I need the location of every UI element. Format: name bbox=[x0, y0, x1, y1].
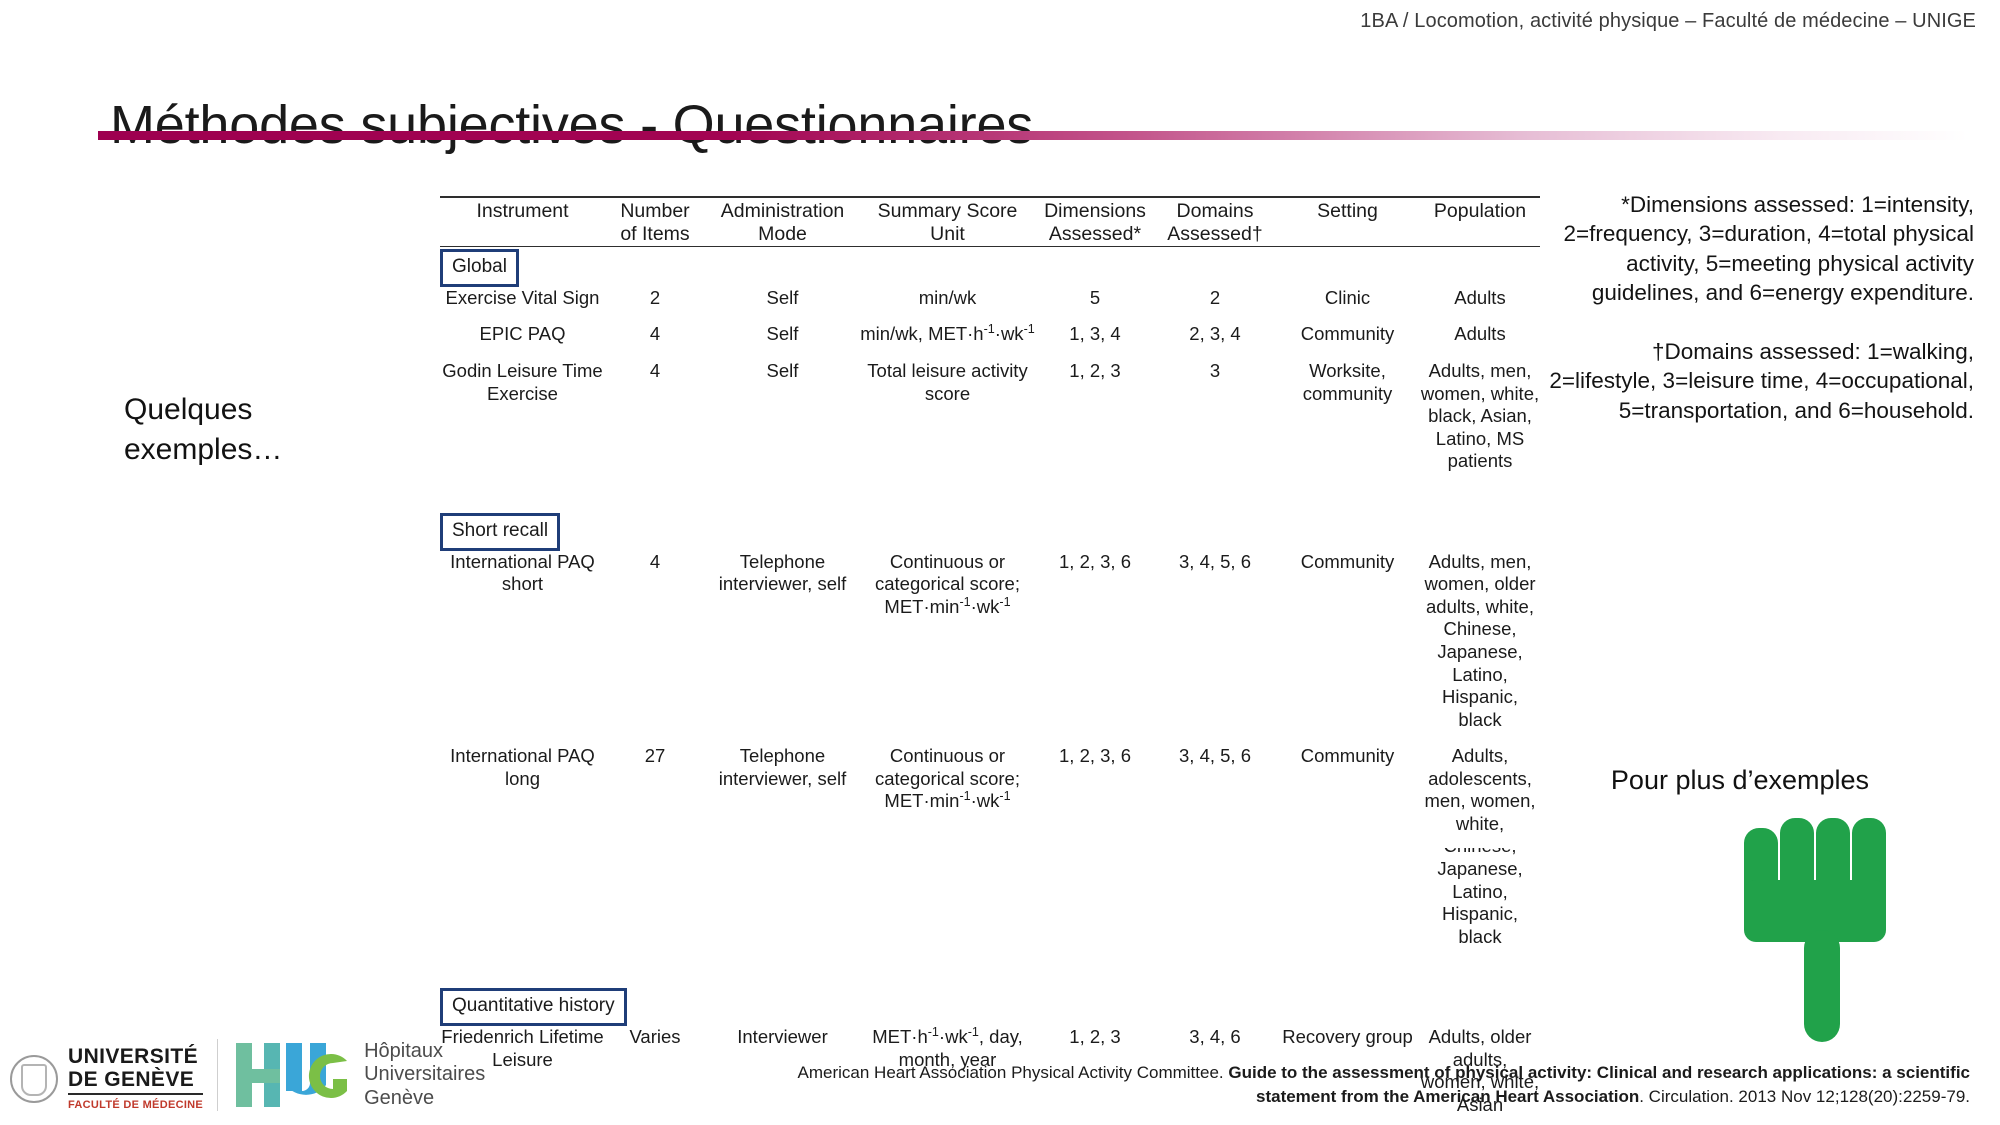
section-cell: Quantitative history bbox=[440, 988, 1540, 1026]
column-header-of-items: Numberof Items bbox=[605, 200, 705, 247]
spacer bbox=[440, 473, 1540, 487]
left-caption: Quelques exemples… bbox=[124, 390, 354, 470]
table-section-row: Short recall bbox=[440, 513, 1540, 551]
spacer bbox=[440, 962, 1540, 988]
cell-unit: Continuous or categorical score; MET·min… bbox=[860, 551, 1035, 732]
cell-items: Varies bbox=[605, 1026, 705, 1116]
cell-mode: Self bbox=[705, 323, 860, 346]
table-header-row: InstrumentNumberof ItemsAdministrationMo… bbox=[440, 200, 1540, 247]
column-header-assessed-: DimensionsAssessed* bbox=[1035, 200, 1155, 247]
section-cell: Short recall bbox=[440, 513, 1540, 551]
hug-line3: Genève bbox=[364, 1087, 485, 1111]
cell-domains: 3 bbox=[1155, 360, 1275, 473]
cell-population: Adults, men, women, older adults, white,… bbox=[1420, 551, 1540, 732]
cell-items: 4 bbox=[605, 360, 705, 473]
figure-footnotes: *Dimensions assessed: 1=intensity, 2=fre… bbox=[1544, 190, 1974, 425]
cell-items: 4 bbox=[605, 551, 705, 732]
cell-population: Adults bbox=[1420, 323, 1540, 346]
cell-unit: min/wk, MET·h-1·wk-1 bbox=[860, 323, 1035, 346]
cell-domains: 2 bbox=[1155, 287, 1275, 310]
cell-dimensions: 1, 2, 3 bbox=[1035, 360, 1155, 473]
spacer-row bbox=[440, 962, 1540, 988]
footnote-dimensions: *Dimensions assessed: 1=intensity, 2=fre… bbox=[1544, 190, 1974, 307]
column-header-setting: Setting bbox=[1275, 200, 1420, 247]
citation-prefix: American Heart Association Physical Acti… bbox=[798, 1063, 1229, 1082]
cell-instrument: EPIC PAQ bbox=[440, 323, 605, 346]
cell-unit: Total leisure activity score bbox=[860, 360, 1035, 473]
unige-line1: UNIVERSITÉ bbox=[68, 1046, 203, 1067]
table-body: InstrumentNumberof ItemsAdministrationMo… bbox=[440, 197, 1540, 1125]
cell-instrument: Exercise Vital Sign bbox=[440, 287, 605, 310]
cell-domains: 3, 4, 5, 6 bbox=[1155, 551, 1275, 732]
cell-dimensions: 1, 2, 3, 6 bbox=[1035, 551, 1155, 732]
cell-items: 4 bbox=[605, 323, 705, 346]
questionnaire-table: InstrumentNumberof ItemsAdministrationMo… bbox=[440, 196, 1540, 1125]
cell-mode: Self bbox=[705, 287, 860, 310]
cell-population: Adults, men, women, white, black, Asian,… bbox=[1420, 360, 1540, 473]
hug-mark-icon bbox=[234, 1039, 352, 1111]
course-header-line: 1BA / Locomotion, activité physique – Fa… bbox=[1360, 10, 1976, 33]
cell-setting: Community bbox=[1275, 323, 1420, 346]
table-row: International PAQ short4Telephone interv… bbox=[440, 551, 1540, 732]
cell-setting: Community bbox=[1275, 551, 1420, 732]
spacer bbox=[440, 346, 1540, 360]
table-section-row: Global bbox=[440, 249, 1540, 287]
hug-logo: Hôpitaux Universitaires Genève bbox=[217, 1039, 485, 1111]
page-title: Méthodes subjectives - Questionnaires bbox=[110, 94, 1033, 156]
questionnaire-table-figure: InstrumentNumberof ItemsAdministrationMo… bbox=[440, 196, 1540, 1125]
unige-line2: DE GENÈVE bbox=[68, 1069, 203, 1095]
section-highlight-short-recall: Short recall bbox=[440, 513, 560, 551]
spacer-row bbox=[440, 487, 1540, 513]
unige-logo: UNIVERSITÉ DE GENÈVE FACULTÉ DE MÉDECINE bbox=[10, 1046, 217, 1111]
footer-logos: UNIVERSITÉ DE GENÈVE FACULTÉ DE MÉDECINE… bbox=[10, 1039, 485, 1111]
spacer-row bbox=[440, 731, 1540, 745]
title-underline-gradient bbox=[98, 131, 1968, 140]
cell-unit: min/wk bbox=[860, 287, 1035, 310]
cell-setting: Clinic bbox=[1275, 287, 1420, 310]
cell-mode: Self bbox=[705, 360, 860, 473]
cell-dimensions: 1, 3, 4 bbox=[1035, 323, 1155, 346]
hug-line1: Hôpitaux bbox=[364, 1040, 485, 1064]
section-highlight-global: Global bbox=[440, 249, 519, 287]
figure-bottom-mask bbox=[440, 838, 1540, 848]
pour-plus-exemples-label: Pour plus d’exemples bbox=[1530, 765, 1950, 796]
hug-line2: Universitaires bbox=[364, 1063, 485, 1087]
column-header-assessed-: DomainsAssessed† bbox=[1155, 200, 1275, 247]
slide-canvas: 1BA / Locomotion, activité physique – Fa… bbox=[0, 0, 2000, 1125]
table-row: Godin Leisure Time Exercise4SelfTotal le… bbox=[440, 360, 1540, 473]
table-section-row: Quantitative history bbox=[440, 988, 1540, 1026]
cell-instrument: International PAQ short bbox=[440, 551, 605, 732]
citation-suffix: . Circulation. 2013 Nov 12;128(20):2259-… bbox=[1639, 1087, 1970, 1106]
spacer bbox=[440, 731, 1540, 745]
unige-line3: FACULTÉ DE MÉDECINE bbox=[68, 1100, 203, 1111]
column-header-unit: Summary ScoreUnit bbox=[860, 200, 1035, 247]
spacer bbox=[440, 948, 1540, 962]
section-cell: Global bbox=[440, 249, 1540, 287]
table-row: EPIC PAQ4Selfmin/wk, MET·h-1·wk-11, 3, 4… bbox=[440, 323, 1540, 346]
spacer-row bbox=[440, 1116, 1540, 1125]
cell-setting: Worksite, community bbox=[1275, 360, 1420, 473]
cell-instrument: Godin Leisure Time Exercise bbox=[440, 360, 605, 473]
table-row: Exercise Vital Sign2Selfmin/wk52ClinicAd… bbox=[440, 287, 1540, 310]
source-citation: American Heart Association Physical Acti… bbox=[790, 1061, 1970, 1109]
column-header-population: Population bbox=[1420, 200, 1540, 247]
footnote-domains: †Domains assessed: 1=walking, 2=lifestyl… bbox=[1544, 337, 1974, 425]
section-highlight-quantitative-history: Quantitative history bbox=[440, 988, 627, 1026]
cell-dimensions: 5 bbox=[1035, 287, 1155, 310]
spacer-row bbox=[440, 473, 1540, 487]
spacer-row bbox=[440, 948, 1540, 962]
cell-population: Adults bbox=[1420, 287, 1540, 310]
spacer bbox=[440, 487, 1540, 513]
spacer-row bbox=[440, 346, 1540, 360]
spacer bbox=[440, 1116, 1540, 1125]
cell-items: 2 bbox=[605, 287, 705, 310]
column-header-mode: AdministrationMode bbox=[705, 200, 860, 247]
cell-mode: Telephone interviewer, self bbox=[705, 551, 860, 732]
cell-domains: 2, 3, 4 bbox=[1155, 323, 1275, 346]
column-header-instrument: Instrument bbox=[440, 200, 605, 247]
unige-seal-icon bbox=[10, 1055, 58, 1103]
pointing-down-hand-icon bbox=[1740, 818, 1920, 1048]
